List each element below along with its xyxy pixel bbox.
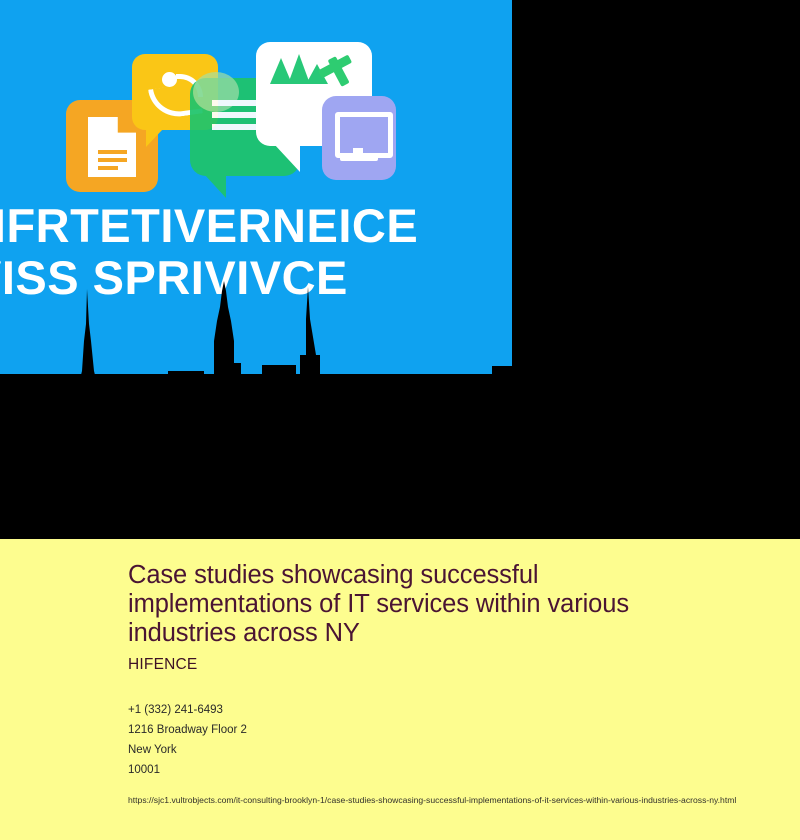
growth-arrow-icon [312,50,356,94]
contact-address-line1: 1216 Broadway Floor 2 [128,720,776,740]
content-panel-inner: Case studies showcasing successful imple… [128,561,776,810]
hero-banner: NFRTETIVERNEICE VISS SPRIVIVCE [0,0,800,539]
source-url[interactable]: https://sjc1.vultrobjects.com/it-consult… [128,790,776,810]
icon-cluster [60,42,390,192]
artwork-overlay-line-1: NFRTETIVERNEICE [0,200,512,252]
page-root: NFRTETIVERNEICE VISS SPRIVIVCE Case stud… [0,0,800,840]
chat-highlight-blob [193,72,239,112]
document-line [98,150,127,154]
new-york-city-skyline-silhouette [0,279,800,539]
chat-text-line [212,124,256,130]
content-panel: Case studies showcasing successful imple… [0,539,800,840]
document-line [98,158,127,162]
contact-phone[interactable]: +1 (332) 241-6493 [128,700,776,720]
monitor-tile-icon [322,96,396,180]
person-head-shape [162,72,177,87]
document-line [98,166,118,170]
contact-block: +1 (332) 241-6493 1216 Broadway Floor 2 … [128,700,776,780]
contact-postal-code: 10001 [128,760,776,780]
monitor-screen-shape [335,112,393,158]
brand-name: HIFENCE [128,656,776,674]
monitor-base-shape [340,156,378,161]
page-title: Case studies showcasing successful imple… [128,561,676,648]
contact-city: New York [128,740,776,760]
